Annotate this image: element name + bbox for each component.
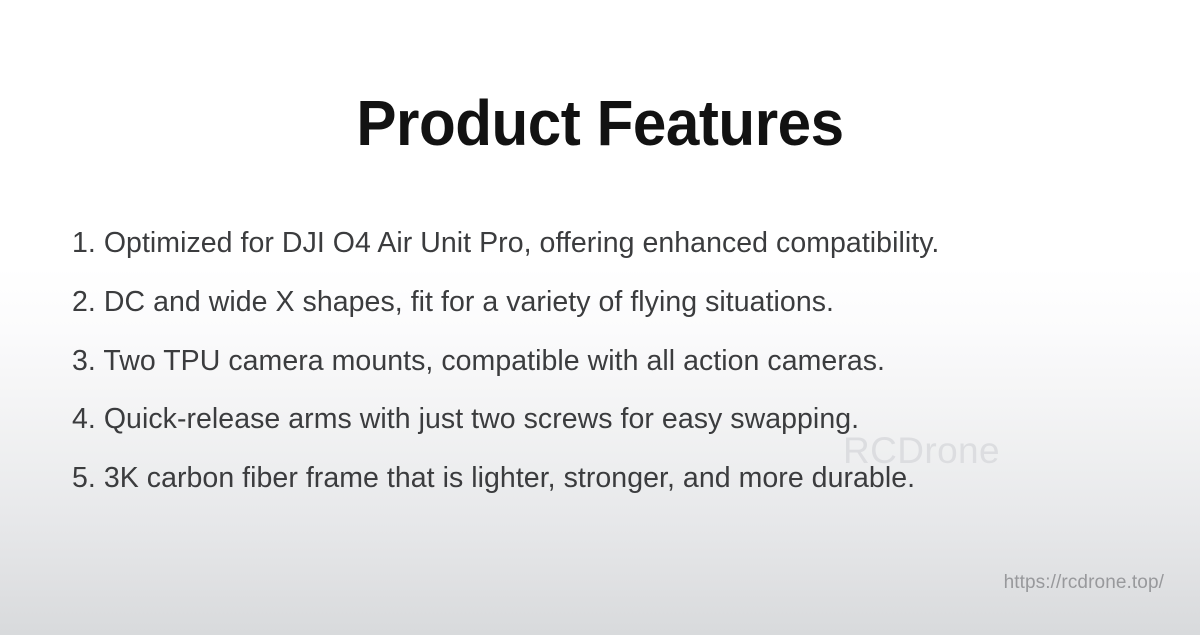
- feature-text-2: DC and wide X shapes, fit for a variety …: [104, 286, 834, 318]
- feature-number-2: 2.: [72, 286, 96, 318]
- feature-text-1: Optimized for DJI O4 Air Unit Pro, offer…: [104, 227, 940, 259]
- feature-number-3: 3.: [72, 345, 96, 377]
- feature-text-5: 3K carbon fiber frame that is lighter, s…: [104, 462, 915, 494]
- site-url-watermark: https://rcdrone.top/: [1004, 573, 1164, 592]
- feature-list: 1. Optimized for DJI O4 Air Unit Pro, of…: [72, 214, 1132, 508]
- product-features-slide: Product Features 1. Optimized for DJI O4…: [0, 0, 1200, 635]
- feature-text-3: Two TPU camera mounts, compatible with a…: [103, 345, 885, 377]
- feature-list-item-5: 5. 3K carbon fiber frame that is lighter…: [72, 449, 1132, 508]
- feature-list-item-2: 2. DC and wide X shapes, fit for a varie…: [72, 273, 1132, 332]
- feature-number-1: 1.: [72, 227, 96, 259]
- feature-text-4: Quick-release arms with just two screws …: [104, 403, 859, 435]
- feature-number-4: 4.: [72, 403, 96, 435]
- feature-list-item-1: 1. Optimized for DJI O4 Air Unit Pro, of…: [72, 214, 1132, 273]
- feature-list-item-3: 3. Two TPU camera mounts, compatible wit…: [72, 332, 1132, 391]
- feature-number-5: 5.: [72, 462, 96, 494]
- feature-list-item-4: 4. Quick-release arms with just two scre…: [72, 390, 1132, 449]
- page-title: Product Features: [36, 90, 1164, 158]
